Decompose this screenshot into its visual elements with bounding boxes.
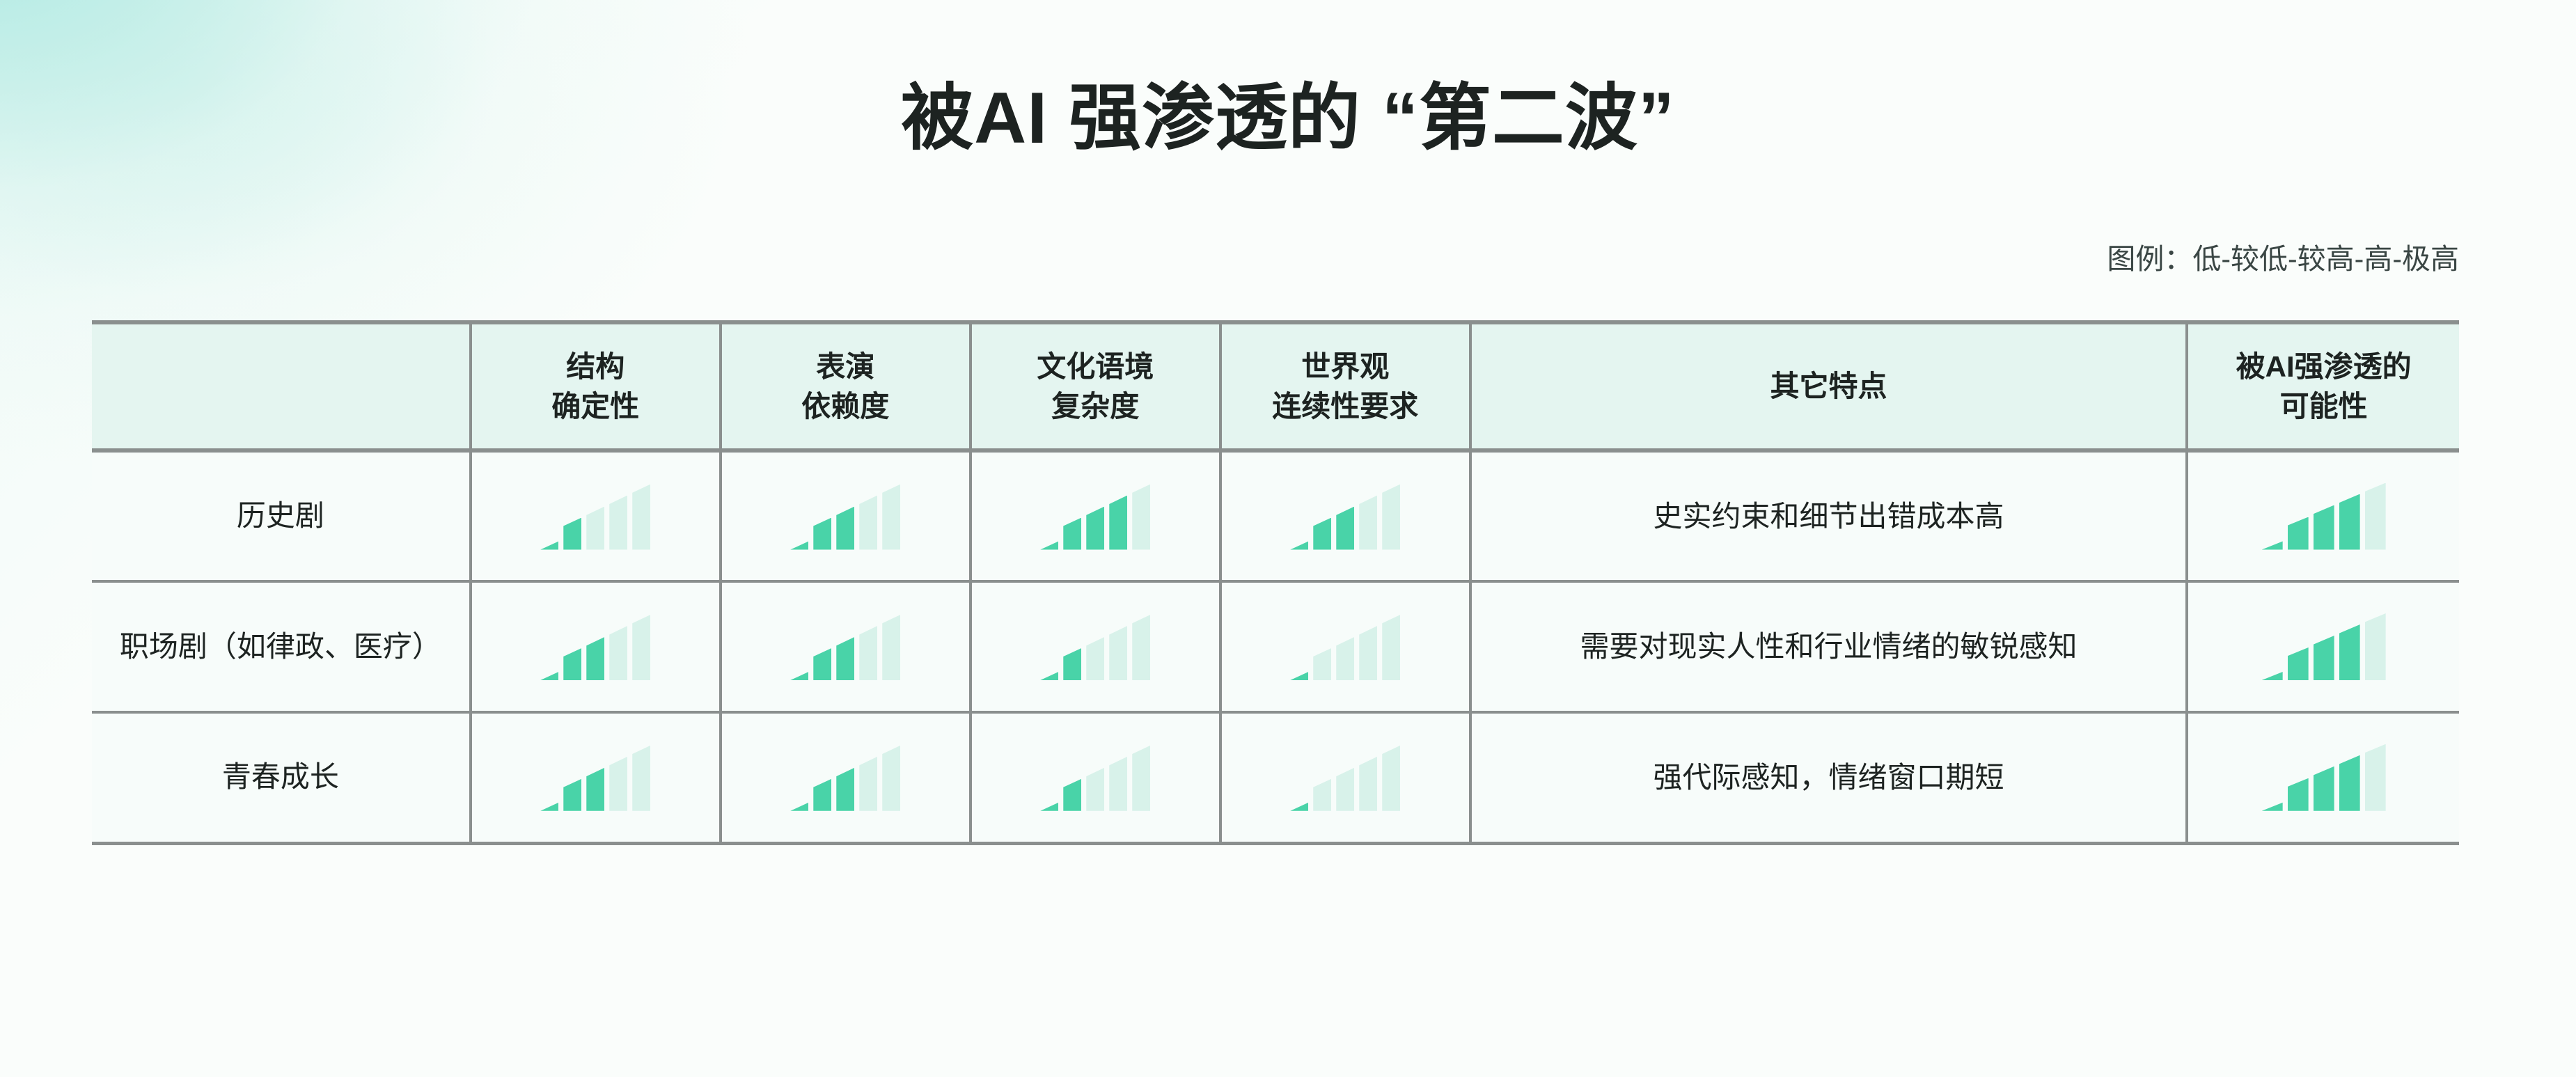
header-row: 结构 确定性 表演 依赖度 文化语境 复杂度 世界观 连续性要求	[92, 322, 2459, 450]
meter-bar-3	[836, 637, 854, 680]
meter-cell-culture	[971, 712, 1220, 843]
meter-bar-3	[586, 768, 604, 811]
column-header-culture: 文化语境 复杂度	[971, 322, 1220, 450]
meter-bar-3	[586, 507, 604, 550]
meter-bar-5	[1382, 746, 1400, 811]
legend-scale-label: 图例：低-较低-较高-高-极高	[2107, 235, 2459, 277]
meter-bar-3	[1086, 768, 1104, 811]
meter-bar-4	[2339, 755, 2360, 811]
meter-bar-5	[1382, 615, 1400, 680]
header-line-1: 世界观	[1232, 347, 1459, 386]
rating-meter	[472, 613, 719, 680]
meter-cell-structure	[471, 581, 721, 712]
meter-bar-2	[563, 648, 581, 680]
meter-bar-5	[1382, 485, 1400, 550]
meter-bar-4	[2339, 624, 2360, 680]
rating-meter	[722, 613, 969, 680]
meter-bar-2	[813, 648, 831, 680]
meter-cell-structure	[471, 450, 721, 581]
slide-canvas: 被AI 强渗透的 “第二波” 图例：低-较低-较高-高-极高 结构 确定性 表演…	[0, 0, 2576, 1077]
row-genre-label: 青春成长	[92, 712, 471, 843]
meter-bar-3	[1336, 637, 1354, 680]
rating-meter	[722, 744, 969, 811]
meter-bar-4	[1109, 496, 1127, 550]
meter-bar-1	[540, 659, 558, 680]
meter-cell-performance	[721, 450, 971, 581]
row-genre-label: 职场剧（如律政、医疗）	[92, 581, 471, 712]
column-header-genre	[92, 322, 471, 450]
meter-cell-worldview	[1220, 712, 1470, 843]
header-line-1: 被AI强渗透的	[2198, 347, 2449, 386]
meter-bar-1	[540, 529, 558, 550]
header-line-2: 复杂度	[982, 386, 1209, 426]
meter-bar-5	[632, 746, 650, 811]
meter-bar-2	[1063, 779, 1081, 811]
rating-meter	[1222, 613, 1469, 680]
matrix-table-container: 结构 确定性 表演 依赖度 文化语境 复杂度 世界观 连续性要求	[92, 320, 2459, 845]
meter-bar-3	[1336, 768, 1354, 811]
meter-bar-1	[790, 529, 808, 550]
rating-meter	[972, 483, 1219, 550]
header-line-1: 文化语境	[982, 347, 1209, 386]
table-row: 历史剧 史实约束和细节出错成本高	[92, 450, 2459, 581]
meter-bar-1	[1290, 529, 1308, 550]
meter-bar-5	[632, 615, 650, 680]
page-title: 被AI 强渗透的 “第二波”	[0, 82, 2576, 155]
meter-bar-1	[1040, 790, 1058, 811]
column-header-structure: 结构 确定性	[471, 322, 721, 450]
meter-bar-1	[2262, 790, 2283, 811]
meter-bar-3	[1086, 507, 1104, 550]
meter-bar-1	[2262, 529, 2283, 550]
meter-bar-5	[1132, 485, 1150, 550]
header-line-2: 可能性	[2198, 386, 2449, 426]
meter-bar-5	[2365, 613, 2386, 680]
column-header-likelihood: 被AI强渗透的 可能性	[2187, 322, 2459, 450]
meter-bar-4	[1359, 757, 1377, 811]
meter-bar-4	[1109, 757, 1127, 811]
meter-bar-4	[1109, 626, 1127, 680]
meter-cell-likelihood	[2187, 450, 2459, 581]
meter-bar-5	[2365, 483, 2386, 550]
meter-bar-2	[2288, 517, 2309, 550]
meter-bar-1	[1040, 659, 1058, 680]
meter-bar-1	[1290, 790, 1308, 811]
column-header-worldview: 世界观 连续性要求	[1220, 322, 1470, 450]
meter-cell-performance	[721, 712, 971, 843]
meter-bar-1	[790, 790, 808, 811]
meter-bar-2	[2288, 778, 2309, 811]
table-body: 历史剧 史实约束和细节出错成本高	[92, 450, 2459, 843]
header-line-2: 确定性	[482, 386, 709, 426]
row-notes: 强代际感知，情绪窗口期短	[1470, 712, 2188, 843]
rating-meter-likelihood	[2188, 613, 2459, 680]
meter-bar-5	[2365, 744, 2386, 811]
meter-bar-2	[2288, 647, 2309, 680]
rating-meter	[472, 483, 719, 550]
rating-meter-likelihood	[2188, 744, 2459, 811]
table-row: 青春成长 强代际感知，情绪窗口期短	[92, 712, 2459, 843]
meter-cell-culture	[971, 581, 1220, 712]
meter-bar-2	[563, 518, 581, 550]
meter-bar-5	[882, 615, 900, 680]
meter-bar-2	[1063, 648, 1081, 680]
meter-bar-4	[2339, 494, 2360, 550]
table-row: 职场剧（如律政、医疗） 需要对现实人性和行业情绪的敏锐感知	[92, 581, 2459, 712]
meter-bar-3	[2314, 505, 2334, 550]
rating-meter-likelihood	[2188, 483, 2459, 550]
meter-cell-likelihood	[2187, 712, 2459, 843]
rating-meter	[972, 613, 1219, 680]
meter-bar-4	[859, 496, 877, 550]
meter-cell-performance	[721, 581, 971, 712]
meter-cell-culture	[971, 450, 1220, 581]
row-notes: 需要对现实人性和行业情绪的敏锐感知	[1470, 581, 2188, 712]
rating-meter	[972, 744, 1219, 811]
meter-bar-3	[836, 507, 854, 550]
meter-bar-4	[1359, 496, 1377, 550]
meter-bar-5	[882, 485, 900, 550]
meter-bar-5	[882, 746, 900, 811]
rating-meter	[1222, 744, 1469, 811]
meter-bar-2	[813, 779, 831, 811]
meter-bar-1	[2262, 659, 2283, 680]
header-line-2: 连续性要求	[1232, 386, 1459, 426]
meter-bar-3	[586, 637, 604, 680]
rating-meter	[472, 744, 719, 811]
meter-bar-5	[632, 485, 650, 550]
column-header-performance: 表演 依赖度	[721, 322, 971, 450]
meter-bar-2	[1313, 779, 1331, 811]
meter-cell-likelihood	[2187, 581, 2459, 712]
meter-bar-3	[836, 768, 854, 811]
meter-cell-structure	[471, 712, 721, 843]
meter-bar-2	[1313, 648, 1331, 680]
meter-bar-1	[1290, 659, 1308, 680]
row-notes: 史实约束和细节出错成本高	[1470, 450, 2188, 581]
meter-bar-3	[1086, 637, 1104, 680]
meter-bar-5	[1132, 746, 1150, 811]
meter-bar-2	[563, 779, 581, 811]
meter-bar-5	[1132, 615, 1150, 680]
meter-bar-4	[609, 496, 627, 550]
meter-bar-2	[1313, 518, 1331, 550]
header-line-1: 结构	[482, 347, 709, 386]
meter-bar-3	[1336, 507, 1354, 550]
genre-ai-penetration-matrix: 结构 确定性 表演 依赖度 文化语境 复杂度 世界观 连续性要求	[92, 320, 2459, 845]
meter-bar-1	[540, 790, 558, 811]
meter-bar-4	[1359, 626, 1377, 680]
meter-bar-4	[859, 626, 877, 680]
rating-meter	[722, 483, 969, 550]
header-line-1: 表演	[732, 347, 959, 386]
column-header-notes: 其它特点	[1470, 322, 2188, 450]
meter-bar-3	[2314, 767, 2334, 811]
meter-bar-4	[609, 757, 627, 811]
meter-bar-4	[609, 626, 627, 680]
meter-bar-2	[1063, 518, 1081, 550]
row-genre-label: 历史剧	[92, 450, 471, 581]
header-line-2: 依赖度	[732, 386, 959, 426]
meter-bar-3	[2314, 636, 2334, 680]
meter-bar-1	[1040, 529, 1058, 550]
meter-cell-worldview	[1220, 581, 1470, 712]
meter-bar-2	[813, 518, 831, 550]
table-header: 结构 确定性 表演 依赖度 文化语境 复杂度 世界观 连续性要求	[92, 322, 2459, 450]
meter-cell-worldview	[1220, 450, 1470, 581]
meter-bar-4	[859, 757, 877, 811]
rating-meter	[1222, 483, 1469, 550]
meter-bar-1	[790, 659, 808, 680]
